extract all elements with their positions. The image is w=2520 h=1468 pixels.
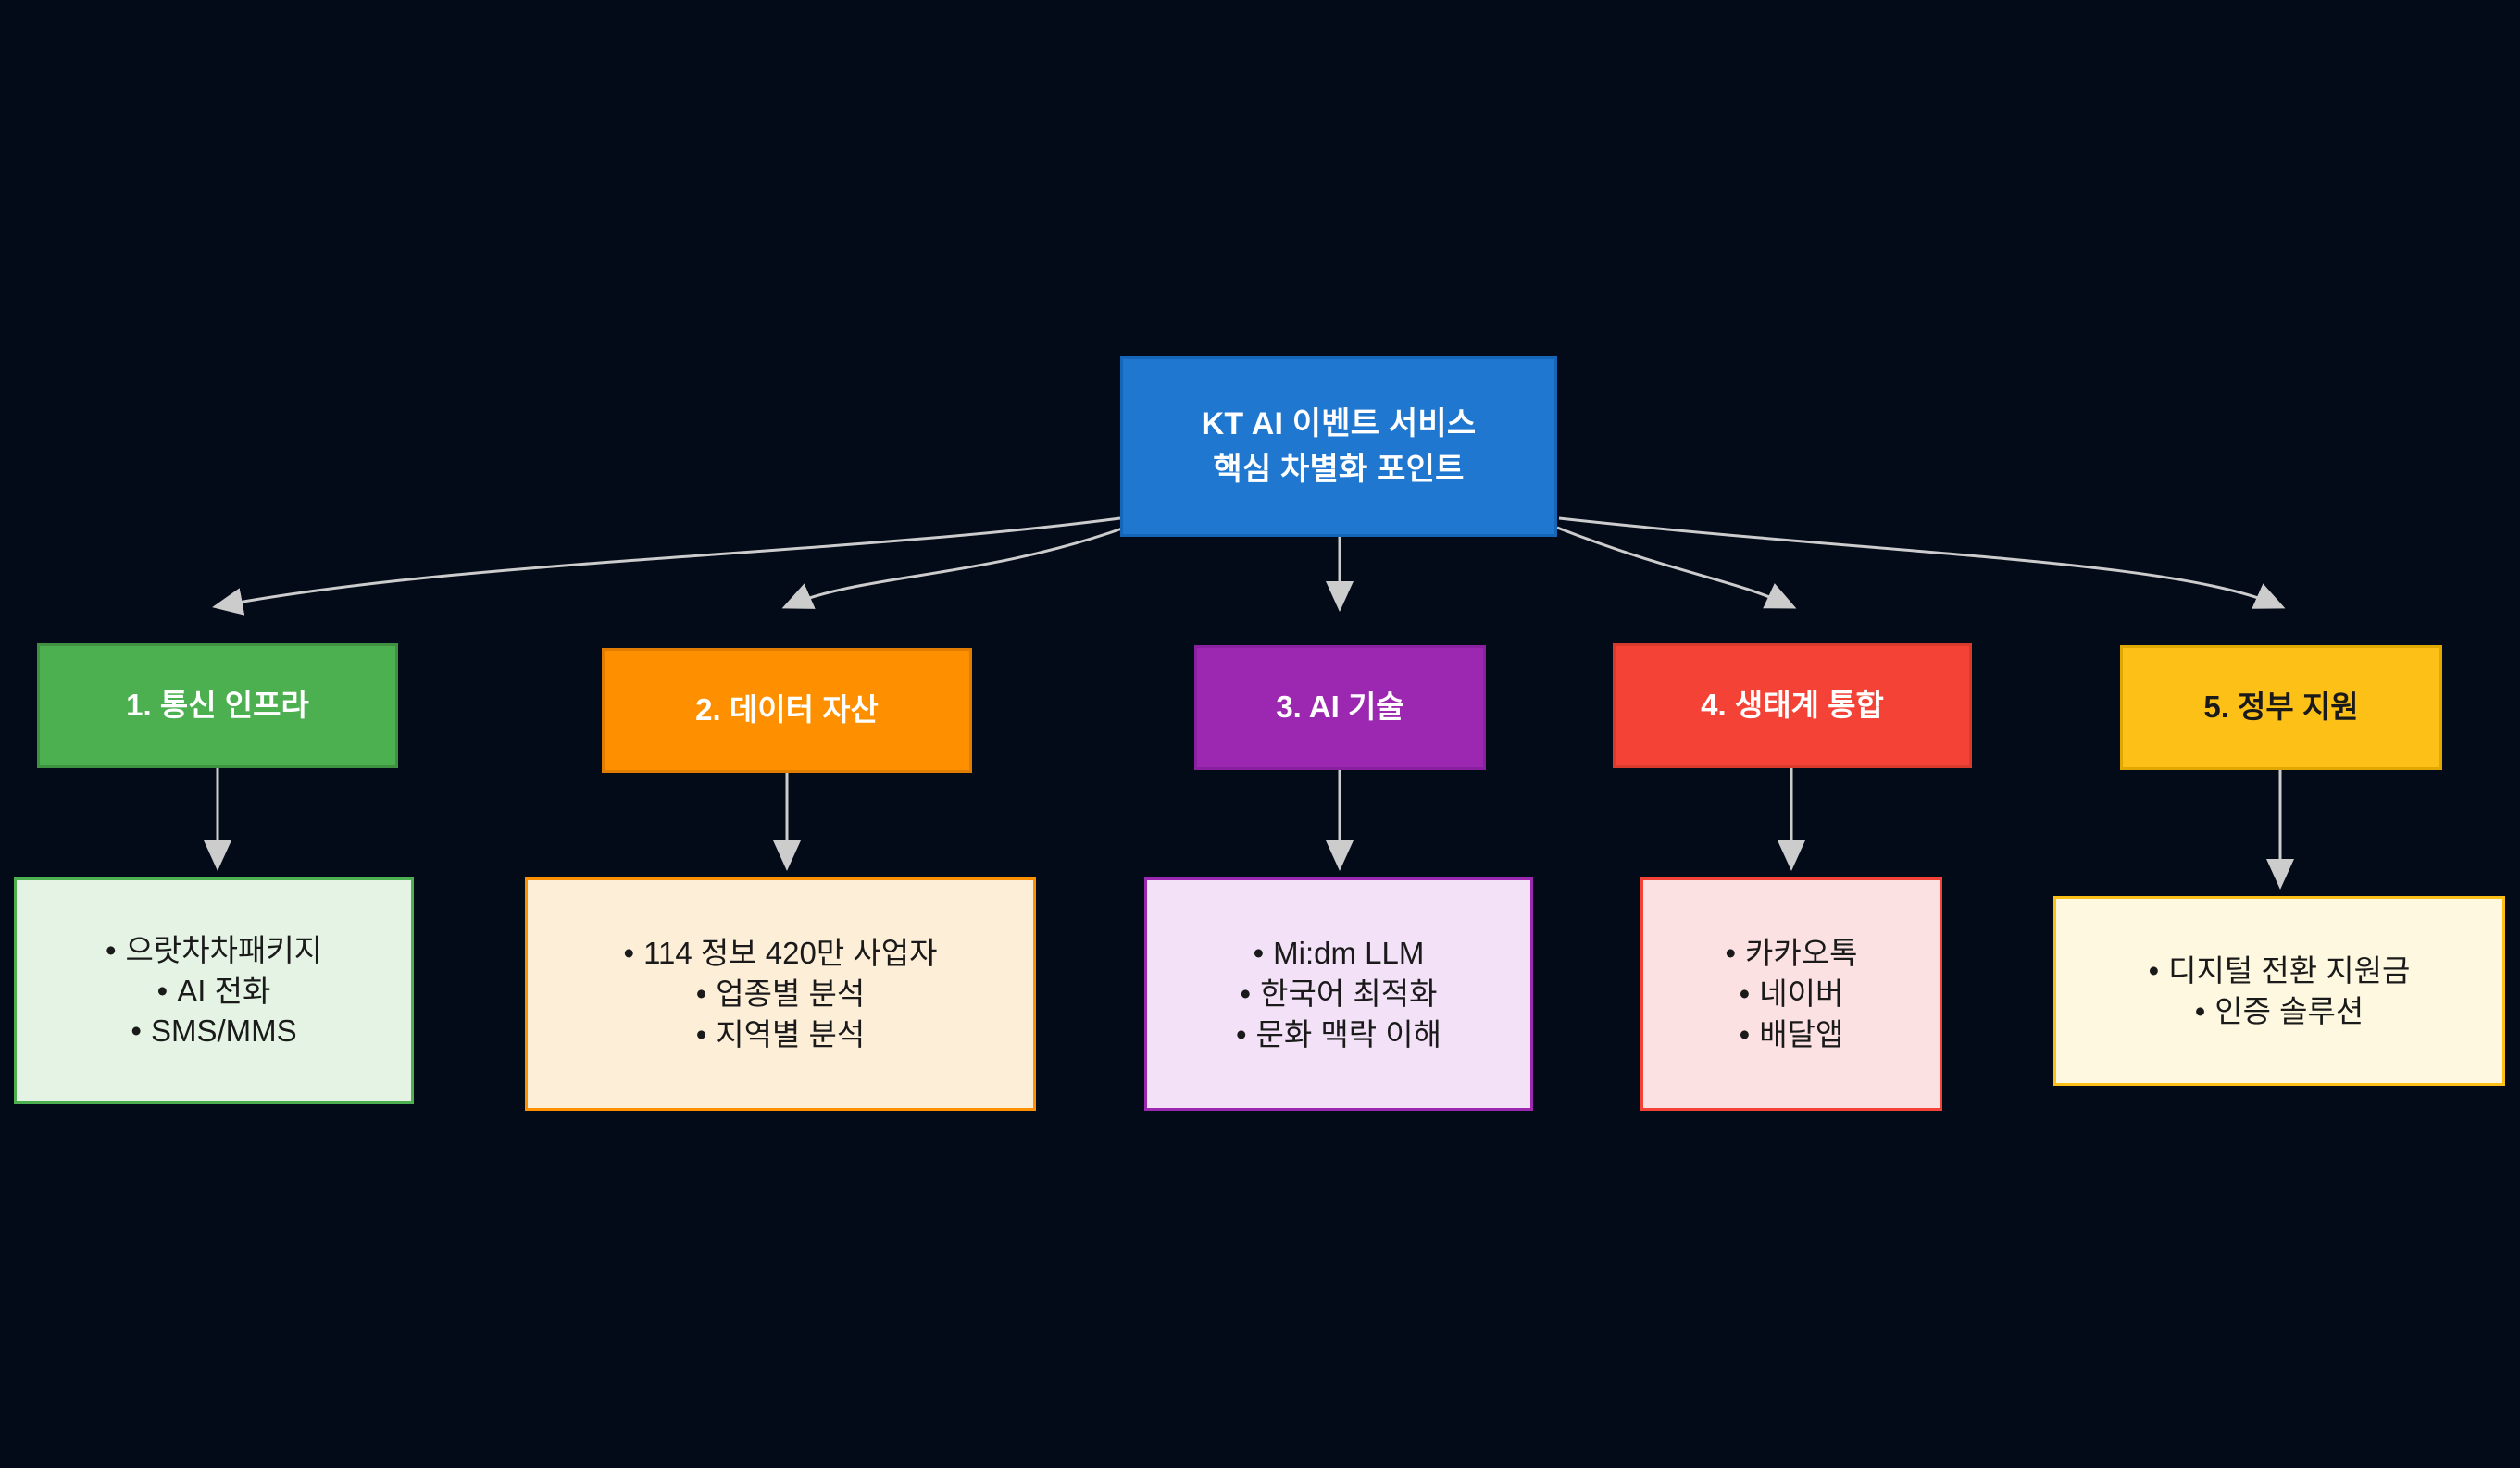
detail-item: AI 전화 xyxy=(106,971,322,1012)
root-node[interactable]: KT AI 이벤트 서비스 핵심 차별화 포인트 xyxy=(1120,356,1557,537)
detail-item: 문화 맥락 이해 xyxy=(1236,1014,1441,1055)
edge-root-to-branch-1 xyxy=(218,518,1120,606)
edge-root-to-branch-2 xyxy=(787,528,1125,606)
branch-node-1[interactable]: 1. 통신 인프라 xyxy=(37,643,398,768)
detail-node-1[interactable]: 으랏차차패키지 AI 전화 SMS/MMS xyxy=(14,877,414,1104)
root-node-line2: 핵심 차별화 포인트 xyxy=(1213,447,1464,491)
detail-item: 한국어 최적화 xyxy=(1236,974,1441,1014)
branch-node-2[interactable]: 2. 데이터 자산 xyxy=(602,648,972,773)
branch-node-3-label: 3. AI 기술 xyxy=(1276,688,1403,728)
detail-item: 지역별 분석 xyxy=(624,1014,938,1055)
detail-item: 배달앱 xyxy=(1725,1014,1857,1055)
detail-item: 인증 솔루션 xyxy=(2149,991,2411,1032)
detail-item: 114 정보 420만 사업자 xyxy=(624,933,938,974)
edge-root-to-branch-4 xyxy=(1557,528,1791,606)
detail-item: SMS/MMS xyxy=(106,1011,322,1051)
detail-node-3-list: Mi:dm LLM 한국어 최적화 문화 맥락 이해 xyxy=(1236,933,1441,1055)
branch-node-2-label: 2. 데이터 자산 xyxy=(695,690,879,730)
detail-node-5[interactable]: 디지털 전환 지원금 인증 솔루션 xyxy=(2053,896,2505,1086)
detail-item: 카카오톡 xyxy=(1725,933,1857,974)
detail-node-4[interactable]: 카카오톡 네이버 배달앱 xyxy=(1640,877,1942,1111)
branch-node-5[interactable]: 5. 정부 지원 xyxy=(2120,645,2442,770)
edge-root-to-branch-5 xyxy=(1559,518,2280,606)
branch-node-4-label: 4. 생태계 통합 xyxy=(1701,686,1884,726)
branch-node-5-label: 5. 정부 지원 xyxy=(2203,688,2358,728)
detail-item: 네이버 xyxy=(1725,974,1857,1014)
detail-node-1-list: 으랏차차패키지 AI 전화 SMS/MMS xyxy=(106,930,322,1052)
branch-node-3[interactable]: 3. AI 기술 xyxy=(1194,645,1486,770)
detail-node-5-list: 디지털 전환 지원금 인증 솔루션 xyxy=(2149,951,2411,1032)
detail-node-2-list: 114 정보 420만 사업자 업종별 분석 지역별 분석 xyxy=(624,933,938,1055)
detail-item: 으랏차차패키지 xyxy=(106,930,322,971)
detail-item: Mi:dm LLM xyxy=(1236,933,1441,974)
branch-node-1-label: 1. 통신 인프라 xyxy=(126,686,309,726)
branch-node-4[interactable]: 4. 생태계 통합 xyxy=(1613,643,1972,768)
detail-node-3[interactable]: Mi:dm LLM 한국어 최적화 문화 맥락 이해 xyxy=(1144,877,1533,1111)
detail-item: 업종별 분석 xyxy=(624,974,938,1014)
detail-item: 디지털 전환 지원금 xyxy=(2149,951,2411,991)
root-node-line1: KT AI 이벤트 서비스 xyxy=(1202,402,1477,446)
diagram-canvas: KT AI 이벤트 서비스 핵심 차별화 포인트 1. 통신 인프라 2. 데이… xyxy=(0,0,2520,1468)
detail-node-4-list: 카카오톡 네이버 배달앱 xyxy=(1725,933,1857,1055)
detail-node-2[interactable]: 114 정보 420만 사업자 업종별 분석 지역별 분석 xyxy=(525,877,1036,1111)
